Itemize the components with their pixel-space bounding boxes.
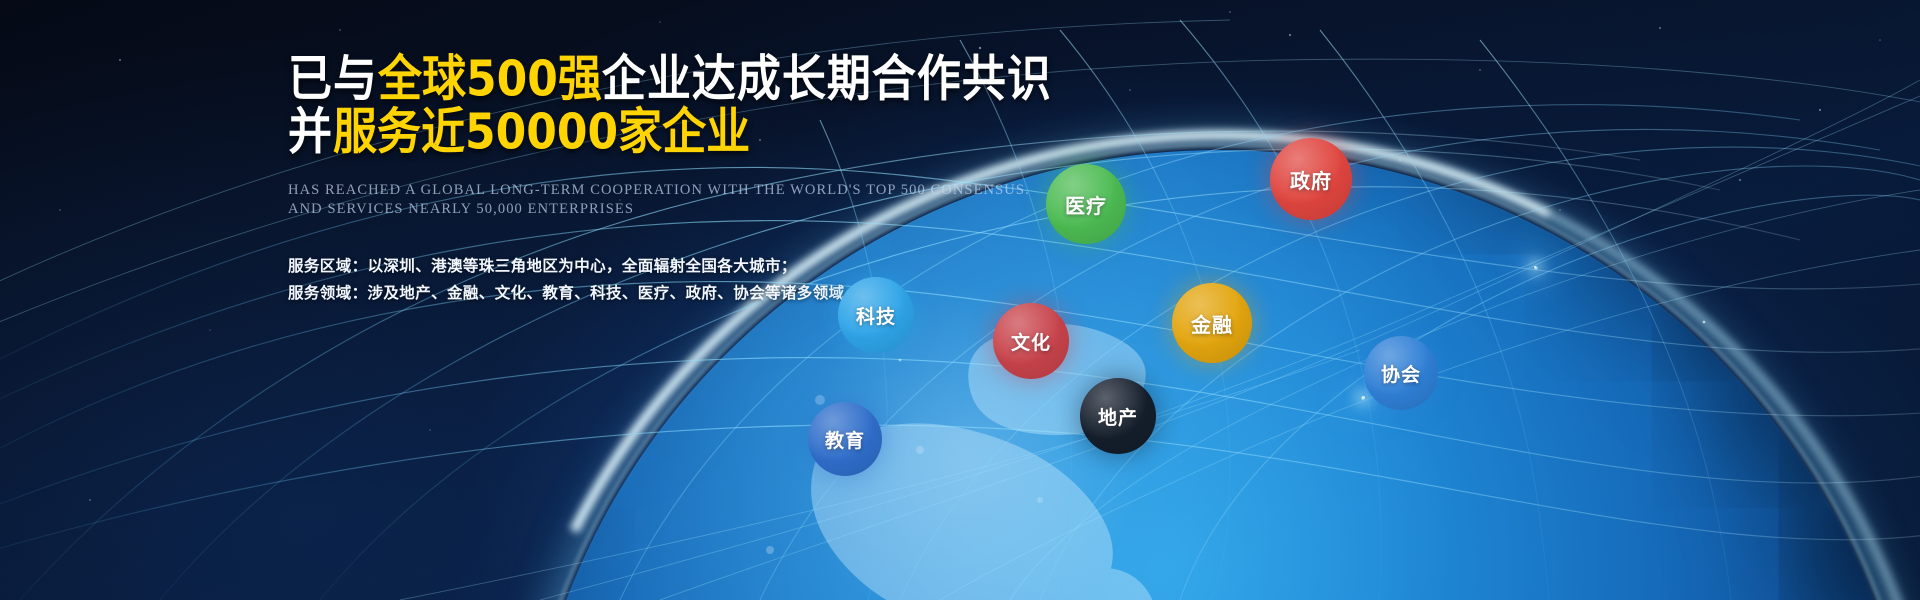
headline-l1-seg-1: 已与 xyxy=(288,51,378,108)
node-flare xyxy=(1362,396,1365,399)
industry-bubble-4[interactable]: 科技 xyxy=(838,277,914,353)
industry-bubble-label: 政府 xyxy=(1290,165,1332,194)
industry-bubble-2[interactable]: 金融 xyxy=(1172,283,1252,363)
english-subtitle-line-1: HAS REACHED A GLOBAL LONG-TERM COOPERATI… xyxy=(288,181,1008,200)
industry-bubble-1[interactable]: 医疗 xyxy=(1046,164,1126,244)
copy-block: 已与全球500强企业达成长期合作共识 并服务近50000家企业 HAS REAC… xyxy=(288,52,1008,307)
industry-bubble-5[interactable]: 协会 xyxy=(1364,336,1438,410)
industry-bubble-label: 教育 xyxy=(825,426,865,453)
english-subtitle: HAS REACHED A GLOBAL LONG-TERM COOPERATI… xyxy=(288,181,1008,219)
headline-l1-highlight: 全球500强 xyxy=(378,51,602,108)
banner-stage: 已与全球500强企业达成长期合作共识 并服务近50000家企业 HAS REAC… xyxy=(0,0,1920,600)
node-flare xyxy=(1534,266,1536,268)
industry-bubble-0[interactable]: 政府 xyxy=(1270,138,1352,220)
headline-line-1: 已与全球500强企业达成长期合作共识 xyxy=(288,52,1008,108)
headline-l1-seg-3: 企业达成长期合作共识 xyxy=(602,51,1052,108)
service-area-line: 服务区域：以深圳、港澳等珠三角地区为中心，全面辐射全国各大城市； xyxy=(288,253,1008,280)
english-subtitle-line-2: AND SERVICES NEARLY 50,000 ENTERPRISES xyxy=(288,200,1008,219)
industry-bubble-label: 地产 xyxy=(1098,403,1138,430)
headline-line-2: 并服务近50000家企业 xyxy=(288,105,1008,161)
industry-bubble-6[interactable]: 地产 xyxy=(1080,378,1156,454)
industry-bubble-label: 医疗 xyxy=(1065,190,1107,219)
industry-bubble-label: 文化 xyxy=(1011,328,1051,355)
industry-bubble-label: 协会 xyxy=(1381,360,1421,387)
industry-bubble-3[interactable]: 文化 xyxy=(993,303,1069,379)
headline-l2-seg-1: 并 xyxy=(288,104,333,161)
industry-bubble-label: 科技 xyxy=(856,302,896,329)
industry-bubble-7[interactable]: 教育 xyxy=(808,402,882,476)
industry-bubble-label: 金融 xyxy=(1191,309,1233,338)
headline-l2-highlight: 服务近50000家企业 xyxy=(333,104,750,161)
